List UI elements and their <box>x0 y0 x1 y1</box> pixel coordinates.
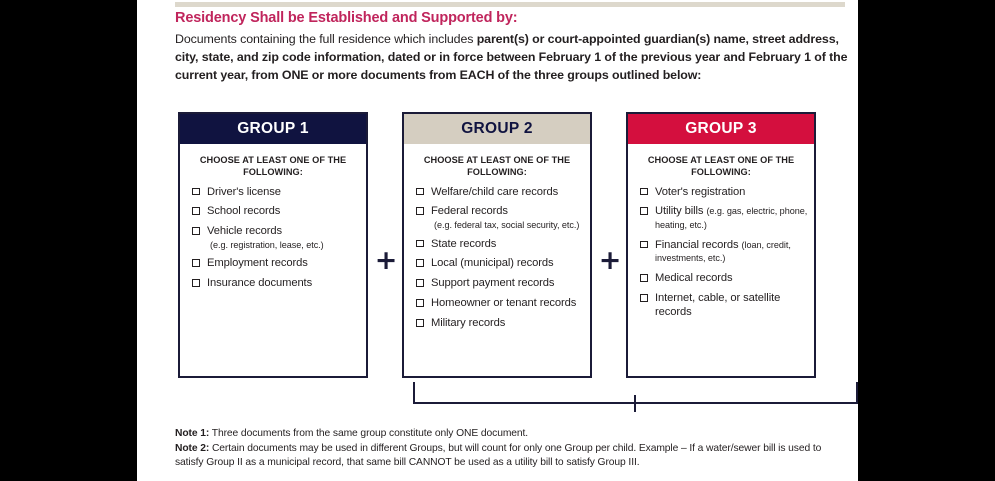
list-item[interactable]: Support payment records <box>416 277 584 290</box>
list-item-label: Utility bills <box>655 205 706 217</box>
checkbox-icon[interactable] <box>416 279 424 287</box>
list-item[interactable]: Local (municipal) records <box>416 257 584 270</box>
list-item-label: State records <box>431 238 496 250</box>
list-item-note: (e.g. registration, lease, etc.) <box>207 240 360 251</box>
bracket-stem-right <box>856 382 858 404</box>
list-item-label: Insurance documents <box>207 277 312 289</box>
checkbox-icon[interactable] <box>640 294 648 302</box>
checkbox-icon[interactable] <box>416 299 424 307</box>
notes-section: Note 1: Three documents from the same gr… <box>175 427 847 471</box>
list-item[interactable]: Insurance documents <box>192 277 360 290</box>
list-item[interactable]: State records <box>416 238 584 251</box>
checkbox-icon[interactable] <box>416 207 424 215</box>
checkbox-icon[interactable] <box>192 207 200 215</box>
group-column-3: GROUP 3 CHOOSE AT LEAST ONE OF THE FOLLO… <box>626 112 816 378</box>
list-item-label: Financial records <box>655 239 742 251</box>
list-item-label: Federal records <box>431 205 508 217</box>
list-item-label: Medical records <box>655 272 732 284</box>
list-item-label: Local (municipal) records <box>431 257 553 269</box>
group-subtitle-2: CHOOSE AT LEAST ONE OF THE FOLLOWING: <box>404 155 590 179</box>
group-item-list-2: Welfare/child care recordsFederal record… <box>404 186 590 331</box>
plus-icon-2: + <box>598 250 622 274</box>
list-item-label: Welfare/child care records <box>431 186 558 198</box>
group-subtitle-3: CHOOSE AT LEAST ONE OF THE FOLLOWING: <box>628 155 814 179</box>
note-2-text: Certain documents may be used in differe… <box>175 443 821 469</box>
checkbox-icon[interactable] <box>192 259 200 267</box>
list-item-label: Driver's license <box>207 186 281 198</box>
note-1-label: Note 1: <box>175 428 209 439</box>
group-header-1: GROUP 1 <box>180 114 366 144</box>
note-2-label: Note 2: <box>175 443 209 454</box>
list-item[interactable]: Federal records(e.g. federal tax, social… <box>416 205 584 231</box>
list-item-label: Support payment records <box>431 277 554 289</box>
letterbox-bar-left <box>0 0 137 481</box>
checkbox-icon[interactable] <box>640 188 648 196</box>
list-item[interactable]: Employment records <box>192 257 360 270</box>
list-item[interactable]: School records <box>192 205 360 218</box>
screenshot-stage: Residency Shall be Established and Suppo… <box>0 0 995 481</box>
group-box-3: GROUP 3 CHOOSE AT LEAST ONE OF THE FOLLO… <box>626 112 816 378</box>
group-box-1: GROUP 1 CHOOSE AT LEAST ONE OF THE FOLLO… <box>178 112 368 378</box>
list-item-label: Military records <box>431 317 505 329</box>
group-item-list-3: Voter's registrationUtility bills (e.g. … <box>628 186 814 320</box>
bracket-stem-center <box>634 395 636 412</box>
checkbox-icon[interactable] <box>416 259 424 267</box>
list-item[interactable]: Military records <box>416 317 584 330</box>
intro-paragraph: Documents containing the full residence … <box>175 30 855 85</box>
checkbox-icon[interactable] <box>640 207 648 215</box>
group-union-bracket <box>274 382 995 414</box>
bracket-stem-left <box>413 382 415 404</box>
list-item-label: Internet, cable, or satellite records <box>655 292 780 317</box>
list-item-label: Employment records <box>207 257 308 269</box>
list-item[interactable]: Medical records <box>640 272 808 285</box>
list-item[interactable]: Homeowner or tenant records <box>416 297 584 310</box>
page-title: Residency Shall be Established and Suppo… <box>175 10 855 27</box>
list-item[interactable]: Utility bills (e.g. gas, electric, phone… <box>640 205 808 232</box>
checkbox-icon[interactable] <box>640 241 648 249</box>
plus-icon-1: + <box>374 250 398 274</box>
group-item-list-1: Driver's licenseSchool recordsVehicle re… <box>180 186 366 291</box>
group-box-2: GROUP 2 CHOOSE AT LEAST ONE OF THE FOLLO… <box>402 112 592 378</box>
note-2: Note 2: Certain documents may be used in… <box>175 442 847 471</box>
intro-section: Residency Shall be Established and Suppo… <box>175 10 855 84</box>
group-subtitle-1: CHOOSE AT LEAST ONE OF THE FOLLOWING: <box>180 155 366 179</box>
list-item-note: (e.g. federal tax, social security, etc.… <box>431 220 584 231</box>
group-header-3: GROUP 3 <box>628 114 814 144</box>
checkbox-icon[interactable] <box>416 240 424 248</box>
list-item-label: School records <box>207 205 280 217</box>
list-item-label: Vehicle records <box>207 225 282 237</box>
group-column-1: GROUP 1 CHOOSE AT LEAST ONE OF THE FOLLO… <box>178 112 368 378</box>
intro-lead-text: Documents containing the full residence … <box>175 32 477 46</box>
list-item[interactable]: Financial records (loan, credit, investm… <box>640 239 808 266</box>
checkbox-icon[interactable] <box>640 274 648 282</box>
list-item[interactable]: Driver's license <box>192 186 360 199</box>
list-item-label: Voter's registration <box>655 186 745 198</box>
list-item-label: Homeowner or tenant records <box>431 297 576 309</box>
list-item[interactable]: Welfare/child care records <box>416 186 584 199</box>
group-column-2: GROUP 2 CHOOSE AT LEAST ONE OF THE FOLLO… <box>402 112 592 378</box>
checkbox-icon[interactable] <box>416 188 424 196</box>
list-item[interactable]: Voter's registration <box>640 186 808 199</box>
document-page: Residency Shall be Established and Suppo… <box>137 0 858 481</box>
top-divider-rule <box>175 2 845 7</box>
note-1-text: Three documents from the same group cons… <box>209 428 528 439</box>
note-1: Note 1: Three documents from the same gr… <box>175 427 847 442</box>
checkbox-icon[interactable] <box>192 188 200 196</box>
group-header-2: GROUP 2 <box>404 114 590 144</box>
checkbox-icon[interactable] <box>192 279 200 287</box>
list-item[interactable]: Vehicle records(e.g. registration, lease… <box>192 225 360 251</box>
checkbox-icon[interactable] <box>192 227 200 235</box>
group-columns: GROUP 1 CHOOSE AT LEAST ONE OF THE FOLLO… <box>178 112 858 380</box>
list-item[interactable]: Internet, cable, or satellite records <box>640 292 808 319</box>
checkbox-icon[interactable] <box>416 319 424 327</box>
